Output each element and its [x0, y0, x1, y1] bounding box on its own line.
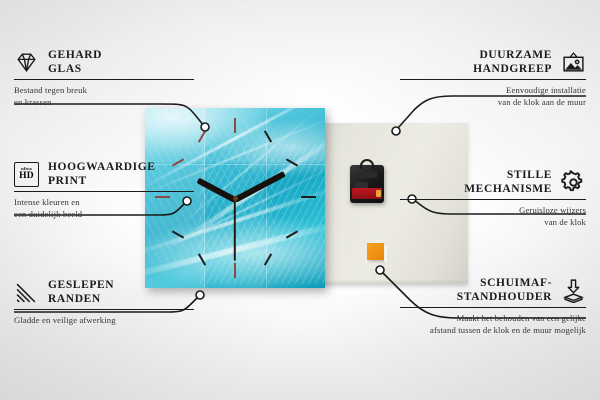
callout-title-line1: STILLE — [507, 169, 552, 181]
tick-3 — [301, 196, 316, 198]
foam-spacer-arrow-icon — [561, 278, 586, 303]
callout-gehard-glas: GEHARD GLAS Bestand tegen breuk en krass… — [14, 48, 194, 108]
framed-picture-hanger-icon — [561, 50, 586, 75]
callout-desc-line1: Intense kleuren en — [14, 197, 194, 208]
callout-desc-line2: van de klok aan de muur — [400, 97, 586, 108]
beveled-edges-icon — [14, 280, 39, 305]
callout-desc-line2: een duidelijk beeld — [14, 209, 194, 220]
callout-title-line1: DUURZAME — [479, 49, 552, 61]
infographic-canvas: GEHARD GLAS Bestand tegen breuk en krass… — [0, 0, 600, 400]
callout-rule — [400, 307, 586, 308]
callout-rule — [400, 79, 586, 80]
callout-title-line2: STANDHOUDER — [457, 291, 552, 303]
callout-title-line2: MECHANISME — [464, 183, 552, 195]
callout-rule — [400, 199, 586, 200]
ultra-hd-icon: ultra HD — [14, 162, 39, 187]
diamond-icon — [14, 50, 39, 75]
movement-slot-top — [355, 172, 377, 178]
callout-desc-line1: Bestand tegen breuk — [14, 85, 194, 96]
foam-spacer-part — [367, 243, 384, 260]
gear-icon — [561, 170, 586, 195]
callout-desc-line1: Eenvoudige installatie — [400, 85, 586, 96]
callout-title-line2: HANDGREEP — [473, 63, 552, 75]
callout-title-line1: SCHUIMAF- — [480, 277, 552, 289]
callout-geslepen-randen: GESLEPEN RANDEN Gladde en veilige afwerk… — [14, 278, 194, 327]
callout-title-line1: GEHARD — [48, 49, 102, 61]
callout-desc-line2: afstand tussen de klok en de muur mogeli… — [400, 325, 586, 336]
callout-title-line2: GLAS — [48, 63, 82, 75]
callout-title-line1: HOOGWAARDIGE — [48, 161, 156, 173]
clock-pivot — [233, 196, 238, 201]
quartz-movement-part — [350, 165, 384, 203]
callout-title-line2: PRINT — [48, 175, 87, 187]
callout-title-line1: GESLEPEN — [48, 279, 114, 291]
callout-duurzame-handgreep: DUURZAME HANDGREEP Eenvoudige installati… — [400, 48, 586, 108]
callout-desc-line1: Gladde en veilige afwerking — [14, 315, 194, 326]
callout-rule — [14, 191, 194, 192]
callout-hoogwaardige-print: ultra HD HOOGWAARDIGE PRINT Intense kleu… — [14, 160, 194, 220]
tick-12 — [234, 118, 236, 133]
callout-stille-mechanisme: STILLE MECHANISME Geruisloze wijzers van… — [400, 168, 586, 228]
callout-desc-line1: Maakt het behouden van een gelijke — [400, 313, 586, 324]
movement-hanger — [360, 159, 374, 169]
callout-rule — [14, 79, 194, 80]
ultra-hd-icon-bottom: HD — [19, 172, 34, 182]
callout-rule — [14, 309, 194, 310]
callout-title-line2: RANDEN — [48, 293, 101, 305]
callout-desc-line1: Geruisloze wijzers — [400, 205, 586, 216]
callout-desc-line2: van de klok — [400, 217, 586, 228]
battery — [352, 188, 382, 199]
callout-desc-line2: en krassen — [14, 97, 194, 108]
callout-schuimafstandhouder: SCHUIMAF- STANDHOUDER Maakt het behouden… — [400, 276, 586, 336]
tick-6 — [234, 263, 236, 278]
second-hand — [234, 199, 236, 261]
